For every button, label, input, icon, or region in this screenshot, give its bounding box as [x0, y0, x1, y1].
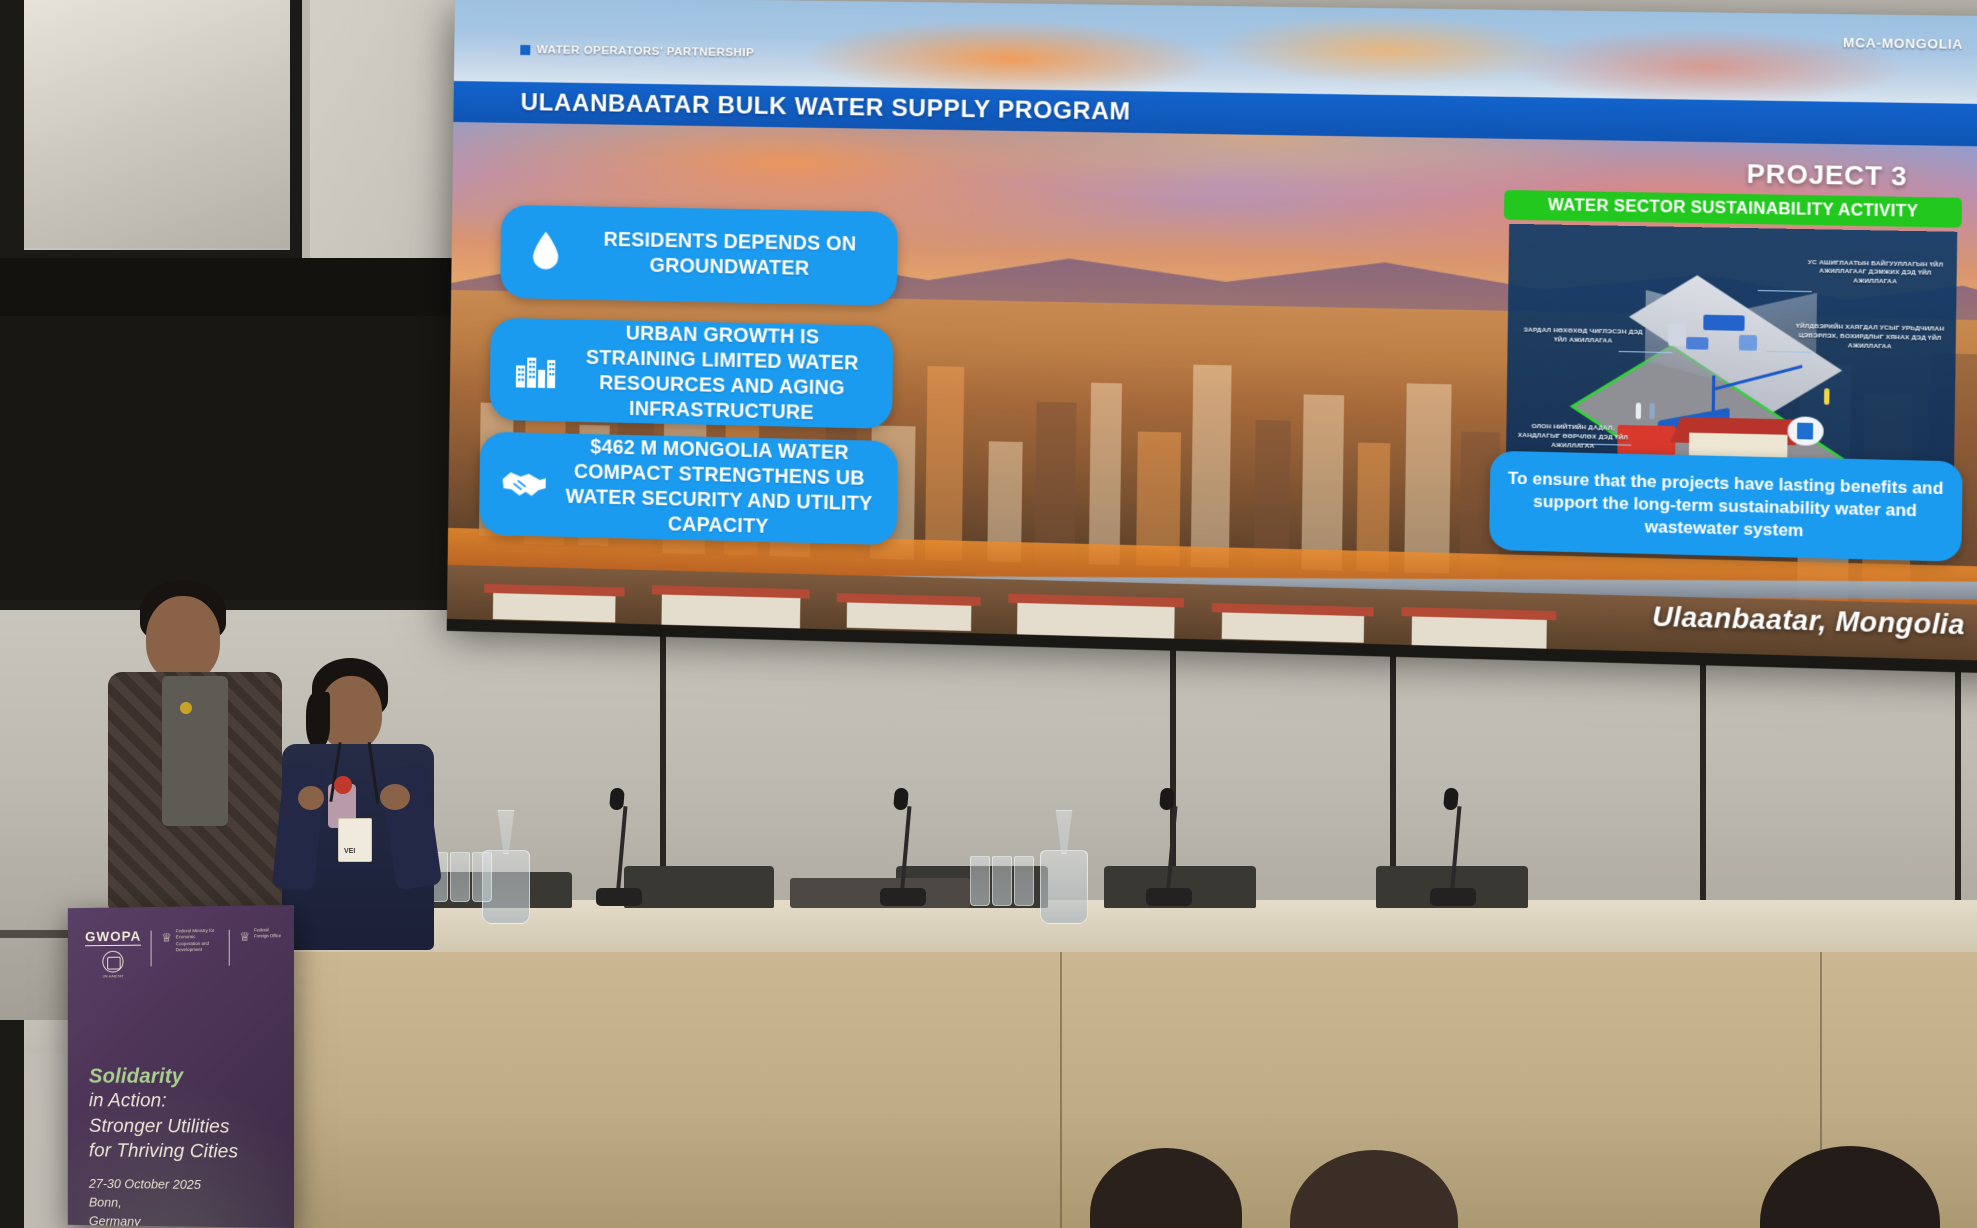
carafe-body	[1040, 850, 1088, 924]
diagram-person	[1636, 403, 1641, 420]
wall-dark-band-2	[0, 316, 470, 602]
diagram-person	[1649, 403, 1654, 420]
drinking-glass	[1014, 856, 1034, 906]
event-title-line-1: Solidarity	[89, 1065, 280, 1089]
name-badge: VEI	[338, 818, 372, 862]
callout-3-text: $462 M MONGOLIA WATER COMPACT STRENGTHEN…	[563, 435, 876, 543]
callout-urban-growth: URBAN GROWTH IS STRAINING LIMITED WATER …	[489, 318, 894, 428]
badge-logo: VEI	[344, 848, 355, 855]
inner-shirt	[162, 676, 228, 826]
event-city: Bonn,	[89, 1194, 201, 1214]
lanyard-clip-icon	[334, 776, 352, 794]
logo-divider	[229, 930, 230, 966]
speaker-podium: GWOPA UN-HABITAT ♕ Federal Ministry for …	[68, 905, 294, 1228]
water-carafe	[1040, 806, 1090, 924]
wop-square-icon	[520, 45, 530, 55]
handshake-icon	[501, 467, 547, 500]
slide: WATER OPERATORS' PARTNERSHIP MCA-MONGOLI…	[447, 0, 1977, 664]
gooseneck-microphone	[1430, 790, 1480, 906]
event-title-line-2: in Action:	[89, 1089, 280, 1115]
drinking-glass	[472, 852, 492, 902]
diagram-label-2: ҮЙЛДВЭРИЙН ХАЯГДАЛ УСЫГ УРЬДЧИЛАН ЦЭВЭРЛ…	[1793, 323, 1947, 354]
event-details: 27-30 October 2025 Bonn, Germany	[89, 1175, 201, 1228]
project-note-text: To ensure that the projects have lasting…	[1506, 467, 1945, 546]
diagram-label-3: ЗАРДАЛ НӨХӨХӨД ЧИГЛЭСЭН ДЭД ҮЙЛ АЖИЛЛАГА…	[1516, 327, 1650, 348]
project-note: To ensure that the projects have lasting…	[1489, 451, 1962, 562]
podium-logo-row: GWOPA UN-HABITAT ♕ Federal Ministry for …	[85, 927, 284, 978]
hand-left	[298, 786, 324, 810]
carafe-neck	[1053, 810, 1075, 854]
microphone-stem	[616, 806, 627, 892]
microphone-base	[1146, 888, 1192, 906]
un-habitat-icon	[103, 951, 124, 973]
diagram-machine	[1686, 337, 1709, 350]
project-banner-text: WATER SECTOR SUSTAINABILITY ACTIVITY	[1548, 196, 1919, 221]
hand-right	[380, 784, 410, 810]
microphone-base	[880, 888, 926, 906]
slide-title: ULAANBAATAR BULK WATER SUPPLY PROGRAM	[521, 89, 1131, 127]
logo-divider	[151, 931, 152, 967]
diagram-kiosk-icon	[1797, 423, 1812, 439]
diagram-label-1: УС АШИГЛААТЫН БАЙГУУЛЛАГЫН ҮЙЛ АЖИЛЛАГАА…	[1803, 258, 1948, 289]
carafe-neck	[495, 810, 517, 854]
microphone-base	[596, 888, 642, 906]
diagram-machine	[1704, 314, 1745, 331]
callout-water-compact: $462 M MONGOLIA WATER COMPACT STRENGTHEN…	[478, 432, 898, 545]
event-dates: 27-30 October 2025	[89, 1175, 201, 1195]
diagram-label-4: ОЛОН НИЙТИЙН ДАДАЛ, ХАНДЛАГЫГ ӨӨРЧЛӨХ ДЭ…	[1510, 423, 1635, 453]
microphone-base	[1430, 888, 1476, 906]
callout-groundwater: RESIDENTS DEPENDS ON GROUNDWATER	[500, 204, 898, 306]
water-drop-icon	[522, 232, 569, 273]
event-title-line-4: for Thriving Cities	[89, 1139, 280, 1166]
mca-mongolia-label: MCA-MONGOLIA	[1843, 35, 1963, 52]
lapel-pin-icon	[180, 702, 192, 714]
bmz-logo: ♕ Federal Ministry for Economic Cooperat…	[161, 928, 219, 954]
drinking-glass	[450, 852, 470, 902]
microphone-stem	[1450, 806, 1461, 892]
callout-1-text: RESIDENTS DEPENDS ON GROUNDWATER	[584, 228, 875, 284]
gooseneck-microphone	[880, 790, 930, 906]
project-label: PROJECT 3	[1746, 158, 1907, 193]
table-panel-seam	[1060, 952, 1062, 1228]
federal-eagle-icon: ♕	[161, 931, 171, 944]
conference-chair	[624, 866, 774, 908]
person-speaker-presenting: VEI	[276, 658, 446, 950]
diagram-tank	[1668, 323, 1686, 346]
drinking-glass	[970, 856, 990, 906]
event-title-block: Solidarity in Action: Stronger Utilities…	[89, 1065, 280, 1166]
hair-back	[306, 692, 330, 748]
event-title-line-3: Stronger Utilities	[89, 1114, 280, 1141]
gooseneck-microphone	[1146, 790, 1196, 906]
gwopa-logo: GWOPA UN-HABITAT	[85, 929, 141, 978]
federal-foreign-office-logo: ♕ Federal Foreign Office	[239, 927, 284, 943]
diagram-machine	[1739, 334, 1757, 350]
wall-dark-band	[0, 258, 492, 316]
microphone-stem	[1166, 806, 1177, 892]
diagram-person	[1824, 388, 1830, 405]
city-buildings-icon	[511, 349, 558, 390]
callout-2-text: URBAN GROWTH IS STRAINING LIMITED WATER …	[573, 320, 871, 427]
head	[146, 596, 220, 682]
panel-table-top	[290, 900, 1977, 960]
drinking-glass	[992, 856, 1012, 906]
microphone-stem	[900, 806, 911, 892]
gooseneck-microphone	[596, 790, 646, 906]
federal-eagle-icon: ♕	[239, 931, 250, 944]
projection-screen: WATER OPERATORS' PARTNERSHIP MCA-MONGOLI…	[447, 0, 1977, 664]
